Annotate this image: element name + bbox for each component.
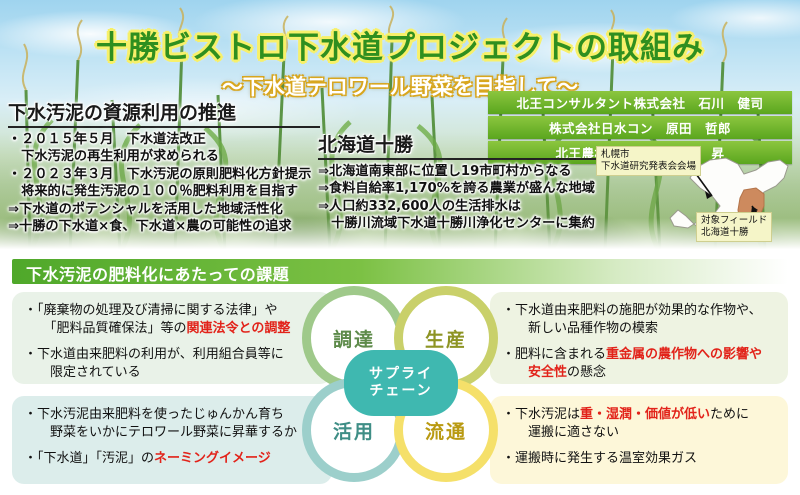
left-block-underline [8,126,320,128]
map-callout-sapporo-venue: 札幌市 下水道研究発表会会場 [596,146,701,176]
left-block-line-4: 将来的に発生汚泥の１００％肥料利用を目指す [8,183,320,200]
panel-bl-list: ・下水汚泥由来肥料を使ったじゅんかん育ち 野菜をいかにテロワール野菜に昇華するか… [24,406,320,468]
panel-br-list: ・下水汚泥は重・湿潤・価値が低いために 運搬に適さない ・運搬時に発生する温室効… [502,406,776,468]
list-item: ・肥料に含まれる重金属の農作物への影響や 安全性の懸念 [502,346,776,383]
panel-tl-list: ・「廃棄物の処理及び清掃に関する法律」や 「肥料品質確保法」等の関連法令との調整… [24,302,320,383]
hokkaido-map: 札幌市 下水道研究発表会会場 対象フィールド 北海道十勝 [612,150,796,250]
left-block-line-5: ⇒下水道のポテンシャルを活用した地域活性化 [8,201,320,218]
list-item: ・「廃棄物の処理及び清掃に関する法律」や 「肥料品質確保法」等の関連法令との調整 [24,302,320,339]
supply-chain-center-line2: チェーン [369,383,432,401]
list-item: ・「下水道」「汚泥」のネーミングイメージ [24,450,320,468]
panel-procurement-issues: ・「廃棄物の処理及び清掃に関する法律」や 「肥料品質確保法」等の関連法令との調整… [12,292,332,384]
left-block-line-2: 下水汚泥の再生利用が求められる [8,148,320,165]
supply-chain-center-label: サプライ チェーン [344,350,458,416]
list-item: ・下水道由来肥料の利用が、利用組合員等に 限定されている [24,346,320,383]
title-block: 十勝ビストロ下水道プロジェクトの取組み ～下水道テロワール野菜を目指して～ [0,22,800,101]
list-item: ・下水汚泥由来肥料を使ったじゅんかん育ち 野菜をいかにテロワール野菜に昇華するか [24,406,320,443]
info-block-hokkaido-tokachi: 北海道十勝 ⇒北海道南東部に位置し19市町村からなる ⇒食料自給率1,170%を… [318,130,618,233]
mid-block-line-4: 十勝川流域下水道十勝川浄化センターに集約 [318,215,618,232]
left-block-line-6: ⇒十勝の下水道×食、下水道×農の可能性の追求 [8,218,320,235]
list-item: ・下水汚泥は重・湿潤・価値が低いために 運搬に適さない [502,406,776,443]
supply-chain-diagram: 調達 生産 活用 流通 サプライ チェーン [302,286,500,484]
left-block-line-3: ・２０２３年３月 下水汚泥の原則肥料化方針提示 [8,166,320,183]
info-block-resource-utilization: 下水汚泥の資源利用の推進 ・２０１５年５月 下水道法改正 下水汚泥の再生利用が求… [8,98,320,236]
left-block-heading: 下水汚泥の資源利用の推進 [8,98,320,125]
map-callout-target-field: 対象フィールド 北海道十勝 [696,212,772,242]
left-block-line-1: ・２０１５年５月 下水道法改正 [8,131,320,148]
panel-utilization-issues: ・下水汚泥由来肥料を使ったじゅんかん育ち 野菜をいかにテロワール野菜に昇華するか… [12,396,332,484]
panel-tr-list: ・下水道由来肥料の施肥が効果的な作物や、 新しい品種作物の模索 ・肥料に含まれる… [502,302,776,383]
list-item: ・下水道由来肥料の施肥が効果的な作物や、 新しい品種作物の模索 [502,302,776,339]
panel-distribution-issues: ・下水汚泥は重・湿潤・価値が低いために 運搬に適さない ・運搬時に発生する温室効… [490,396,788,484]
mid-block-underline [318,158,618,160]
page-title: 十勝ビストロ下水道プロジェクトの取組み [0,22,800,67]
mid-block-line-3: ⇒人口約332,600人の生活排水は [318,198,618,215]
mid-block-line-2: ⇒食料自給率1,170%を誇る農業が盛んな地域 [318,180,618,197]
slide-root: 十勝ビストロ下水道プロジェクトの取組み ～下水道テロワール野菜を目指して～ 北王… [0,0,800,495]
mid-block-line-1: ⇒北海道南東部に位置し19市町村からなる [318,163,618,180]
section-banner-title: 下水汚泥の肥料化にあたっての課題 [26,261,289,285]
mid-block-heading: 北海道十勝 [318,130,618,157]
supply-chain-center-line1: サプライ [369,366,433,384]
panel-production-issues: ・下水道由来肥料の施肥が効果的な作物や、 新しい品種作物の模索 ・肥料に含まれる… [490,292,788,384]
list-item: ・運搬時に発生する温室効果ガス [502,450,776,468]
author-line-1: 北王コンサルタント株式会社 石川 健司 [488,91,792,114]
